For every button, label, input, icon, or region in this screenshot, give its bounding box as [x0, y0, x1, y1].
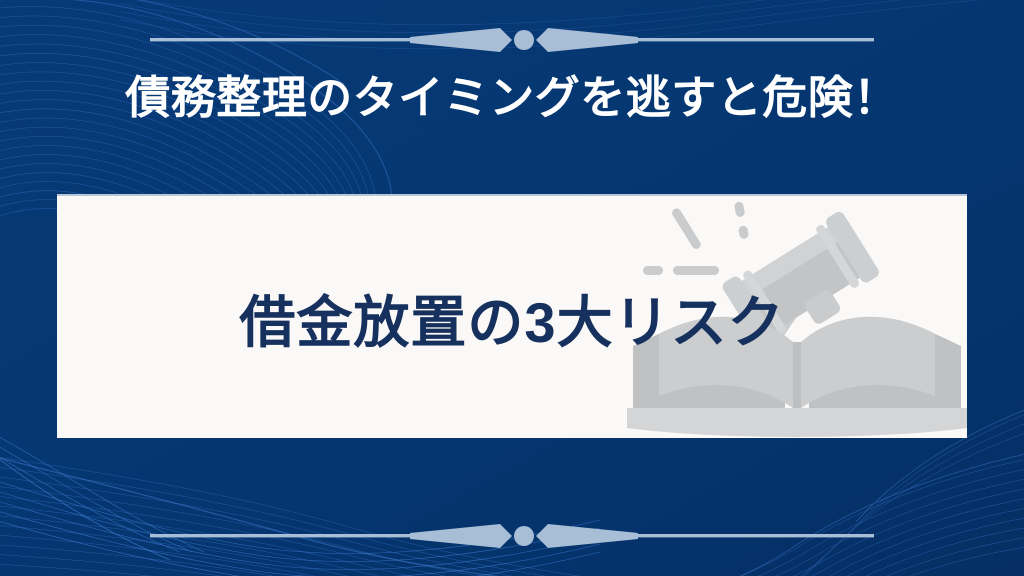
- slide-canvas: 債務整理のタイミングを逃すと危険！: [0, 0, 1024, 576]
- decorative-divider-bottom: [0, 516, 1024, 556]
- decorative-divider-top: [0, 20, 1024, 60]
- page-title: 債務整理のタイミングを逃すと危険！: [0, 72, 1024, 124]
- card-heading: 借金放置の3大リスク: [57, 196, 967, 438]
- content-card: 借金放置の3大リスク: [57, 194, 967, 438]
